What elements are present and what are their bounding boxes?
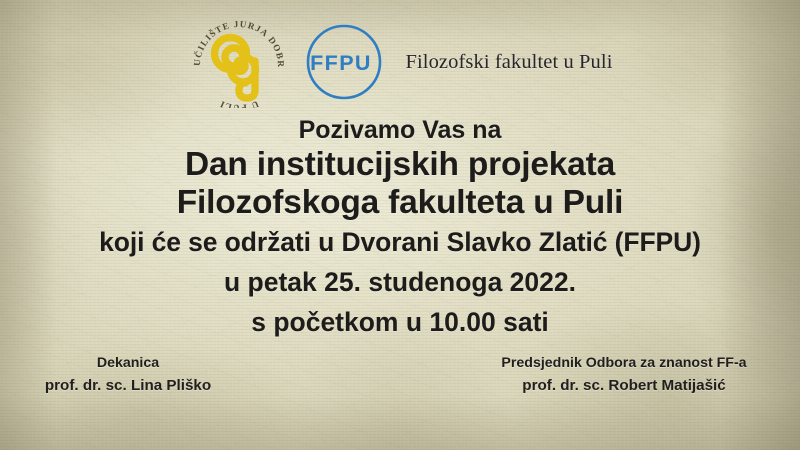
- poster-content: SVEUČILIŠTE JURJA DOBRILE U PULI: [0, 0, 800, 450]
- signature-block-right: Predsjednik Odbora za znanost FF-a prof.…: [468, 352, 780, 397]
- signature-right-role: Predsjednik Odbora za znanost FF-a: [468, 352, 780, 374]
- event-time-line: s početkom u 10.00 sati: [0, 302, 800, 342]
- ffpu-label: FFPU: [311, 51, 373, 75]
- event-title-line-1: Dan institucijskih projekata: [0, 146, 800, 184]
- invitation-poster: SVEUČILIŠTE JURJA DOBRILE U PULI: [0, 0, 800, 450]
- signature-block-left: Dekanica prof. dr. sc. Lina Pliško: [10, 352, 246, 397]
- signature-right-name: prof. dr. sc. Robert Matijašić: [468, 374, 780, 397]
- faculty-name-label: Filozofski fakultet u Puli: [405, 51, 612, 74]
- university-seal-logo: SVEUČILIŠTE JURJA DOBRILE U PULI: [187, 16, 293, 108]
- invitation-text-block: Pozivamo Vas na Dan institucijskih proje…: [0, 114, 800, 342]
- logo-row: SVEUČILIŠTE JURJA DOBRILE U PULI: [0, 18, 800, 106]
- event-venue-line: koji će se održati u Dvorani Slavko Zlat…: [0, 222, 800, 262]
- event-title-line-2: Filozofskoga fakulteta u Puli: [0, 184, 800, 222]
- ffpu-logo: FFPU: [299, 18, 391, 106]
- spiral-icon: [215, 38, 256, 83]
- signature-left-name: prof. dr. sc. Lina Pliško: [10, 374, 246, 397]
- invitation-intro-line: Pozivamo Vas na: [0, 114, 800, 146]
- event-date-line: u petak 25. studenoga 2022.: [0, 262, 800, 302]
- signature-left-role: Dekanica: [10, 352, 246, 374]
